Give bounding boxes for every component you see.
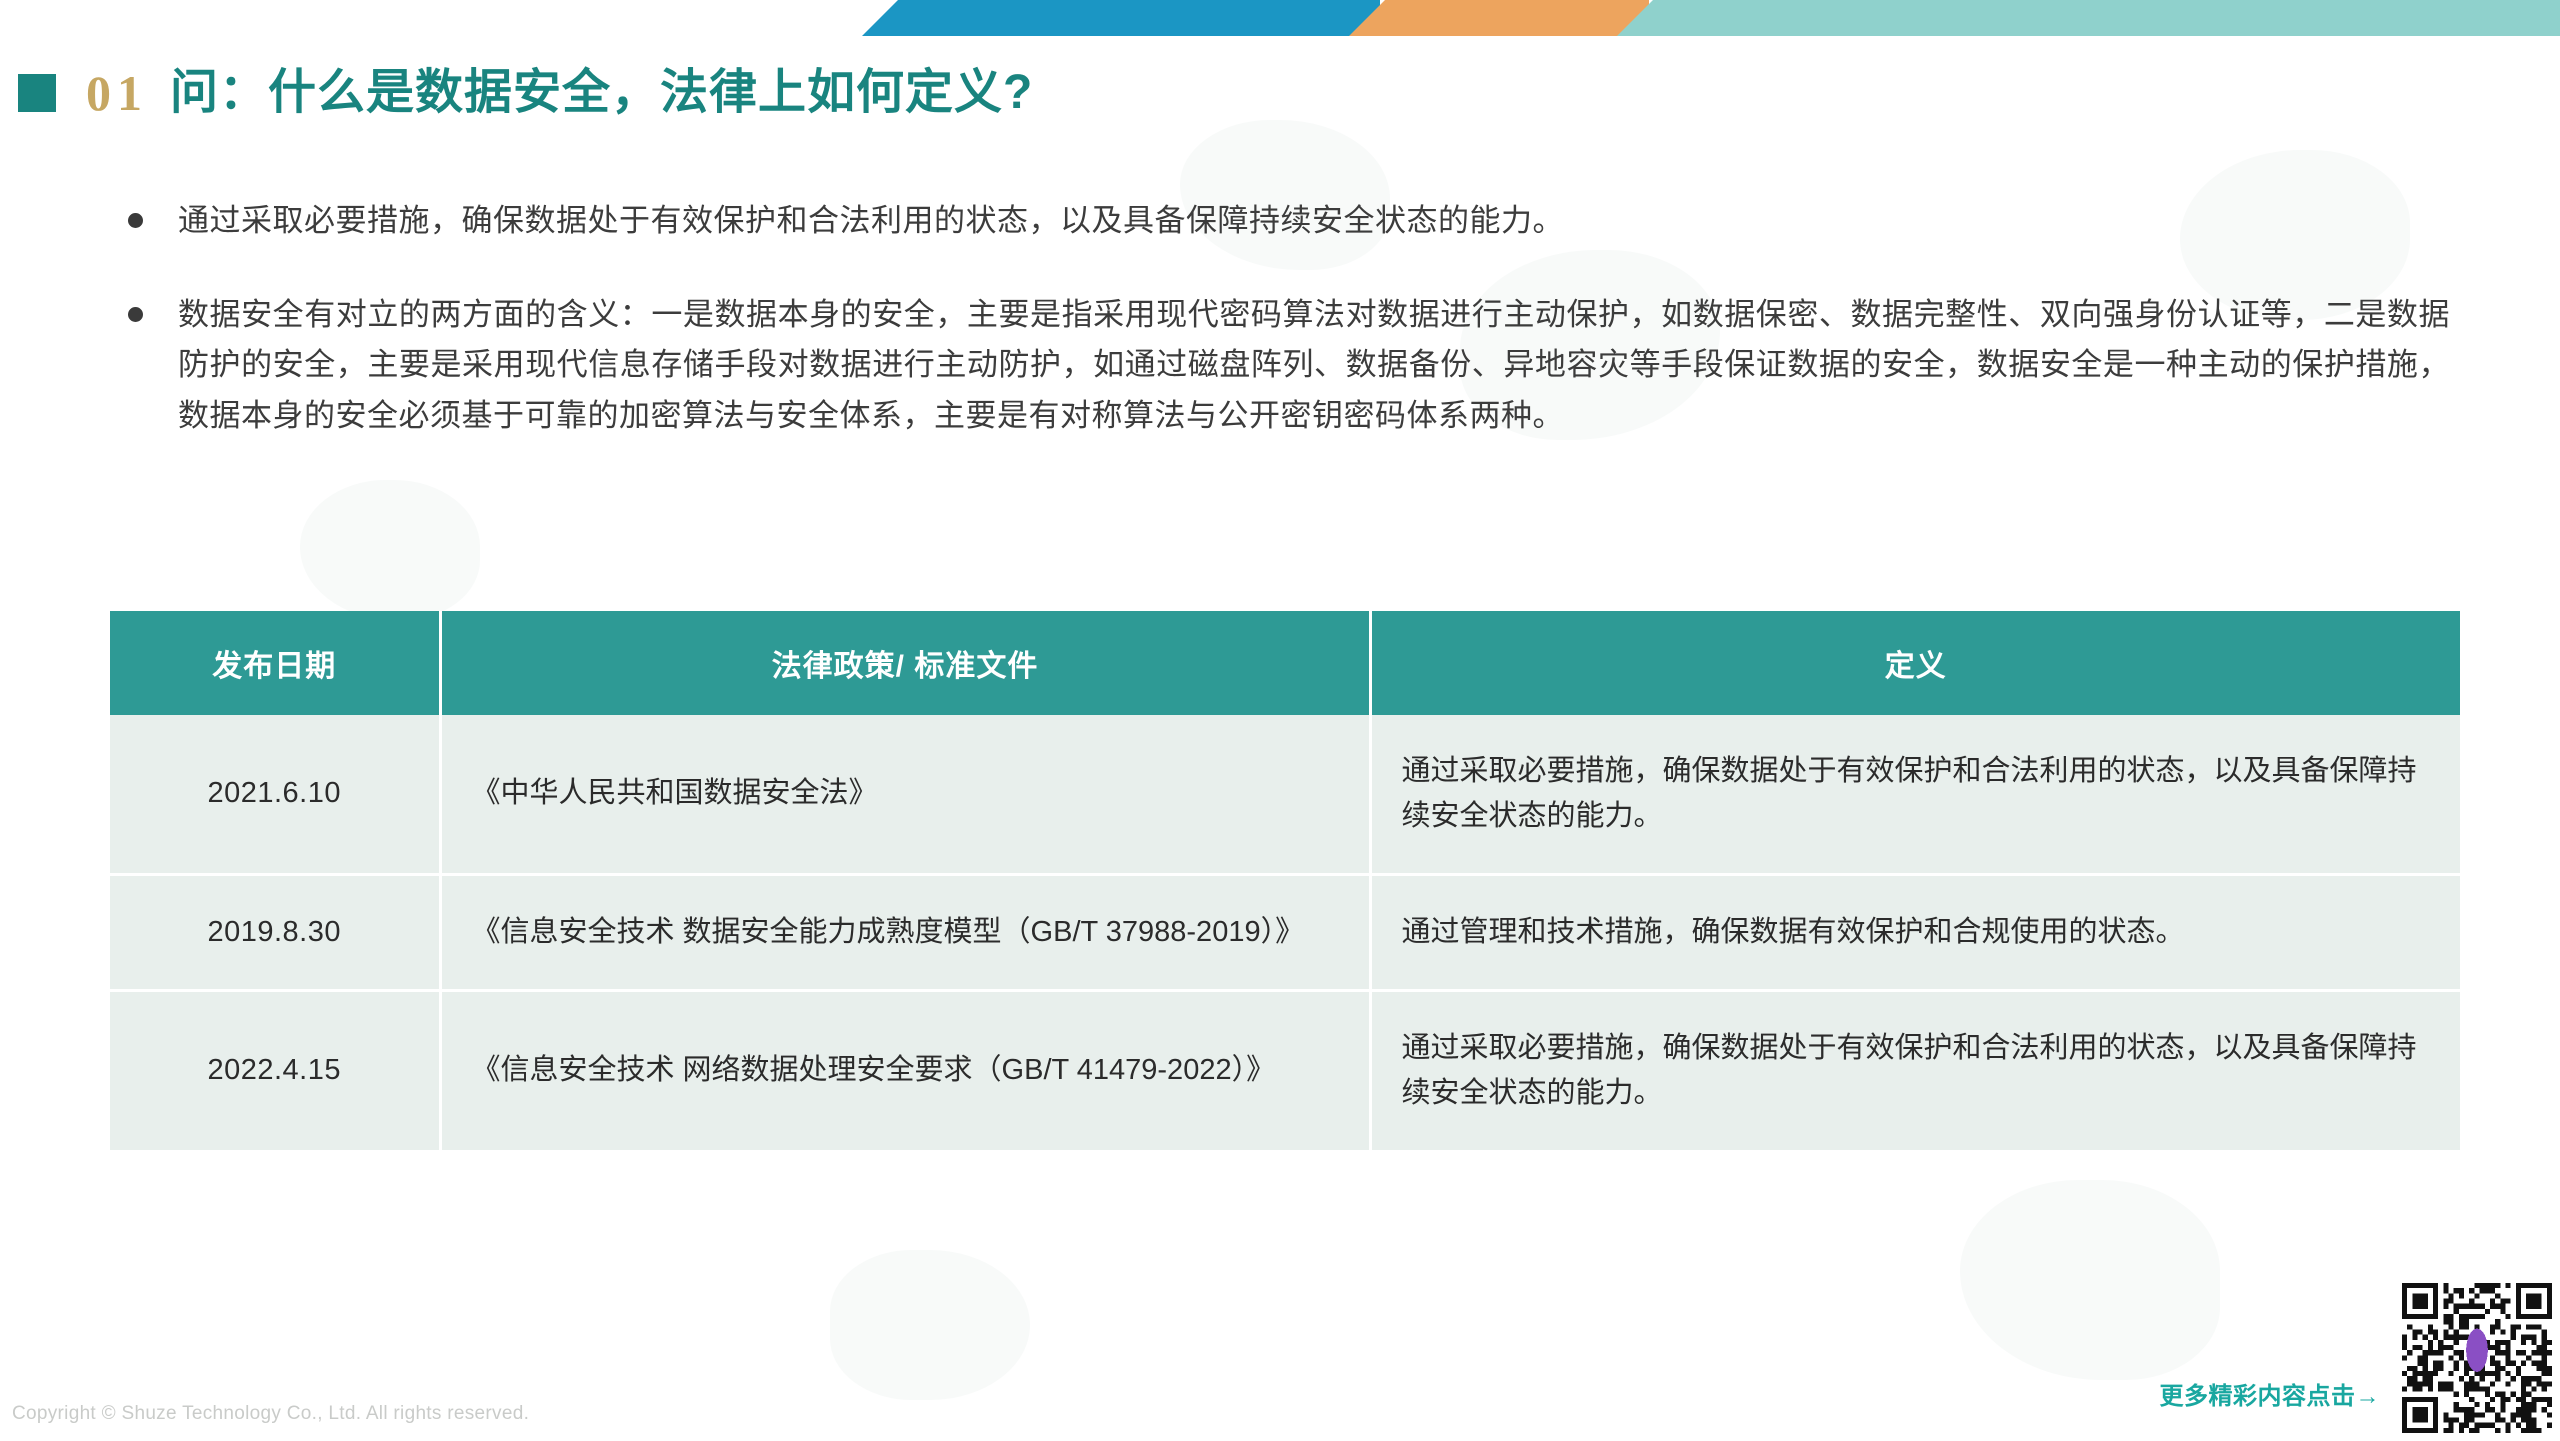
cell-date: 2021.6.10 xyxy=(110,715,440,874)
cell-definition: 通过采取必要措施，确保数据处于有效保护和合法利用的状态，以及具备保障持续安全状态… xyxy=(1370,990,2460,1149)
bullet-item: 通过采取必要措施，确保数据处于有效保护和合法利用的状态，以及具备保障持续安全状态… xyxy=(120,196,2450,246)
bullet-list: 通过采取必要措施，确保数据处于有效保护和合法利用的状态，以及具备保障持续安全状态… xyxy=(120,196,2450,441)
cell-definition: 通过采取必要措施，确保数据处于有效保护和合法利用的状态，以及具备保障持续安全状态… xyxy=(1370,715,2460,874)
definitions-table-wrapper: 发布日期 法律政策/ 标准文件 定义 2021.6.10 《中华人民共和国数据安… xyxy=(110,611,2460,1150)
bullet-text: 通过采取必要措施，确保数据处于有效保护和合法利用的状态，以及具备保障持续安全状态… xyxy=(178,203,1564,238)
copyright-text: Copyright © Shuze Technology Co., Ltd. A… xyxy=(12,1403,529,1425)
cell-document: 《信息安全技术 网络数据处理安全要求（GB/T 41479-2022）》 xyxy=(440,990,1370,1149)
bullet-item: 数据安全有对立的两方面的含义：一是数据本身的安全，主要是指采用现代密码算法对数据… xyxy=(120,290,2450,441)
bullet-dot-icon xyxy=(128,307,143,322)
banner-ribbon-orange xyxy=(1349,0,1649,36)
page-title: 01 问：什么是数据安全，法律上如何定义? xyxy=(18,68,1033,118)
square-marker-icon xyxy=(18,74,56,112)
table-row: 2019.8.30 《信息安全技术 数据安全能力成熟度模型（GB/T 37988… xyxy=(110,874,2460,990)
bullet-dot-icon xyxy=(128,213,143,228)
slide-root: 01 问：什么是数据安全，法律上如何定义? 通过采取必要措施，确保数据处于有效保… xyxy=(0,0,2560,1441)
bullet-text: 数据安全有对立的两方面的含义：一是数据本身的安全，主要是指采用现代密码算法对数据… xyxy=(178,297,2450,432)
banner-ribbon-teal xyxy=(1617,0,2560,36)
column-header-definition: 定义 xyxy=(1370,611,2460,715)
column-header-date: 发布日期 xyxy=(110,611,440,715)
table-row: 2022.4.15 《信息安全技术 网络数据处理安全要求（GB/T 41479-… xyxy=(110,990,2460,1149)
cell-document: 《信息安全技术 数据安全能力成熟度模型（GB/T 37988-2019）》 xyxy=(440,874,1370,990)
cell-definition: 通过管理和技术措施，确保数据有效保护和合规使用的状态。 xyxy=(1370,874,2460,990)
background-watermark-blob xyxy=(1960,1180,2220,1380)
more-content-link[interactable]: 更多精彩内容点击→ xyxy=(2160,1376,2381,1411)
cell-date: 2019.8.30 xyxy=(110,874,440,990)
background-watermark-blob xyxy=(830,1250,1030,1400)
section-number: 01 xyxy=(86,68,148,118)
cell-date: 2022.4.15 xyxy=(110,990,440,1149)
table-row: 2021.6.10 《中华人民共和国数据安全法》 通过采取必要措施，确保数据处于… xyxy=(110,715,2460,874)
column-header-document: 法律政策/ 标准文件 xyxy=(440,611,1370,715)
definitions-table: 发布日期 法律政策/ 标准文件 定义 2021.6.10 《中华人民共和国数据安… xyxy=(110,611,2460,1150)
background-watermark-blob xyxy=(300,480,480,620)
table-header-row: 发布日期 法律政策/ 标准文件 定义 xyxy=(110,611,2460,715)
section-title-text: 问：什么是数据安全，法律上如何定义? xyxy=(170,69,1033,117)
banner-ribbon-blue xyxy=(862,0,1380,36)
cell-document: 《中华人民共和国数据安全法》 xyxy=(440,715,1370,874)
qr-code[interactable] xyxy=(2402,1283,2552,1433)
top-banner xyxy=(0,0,2560,36)
